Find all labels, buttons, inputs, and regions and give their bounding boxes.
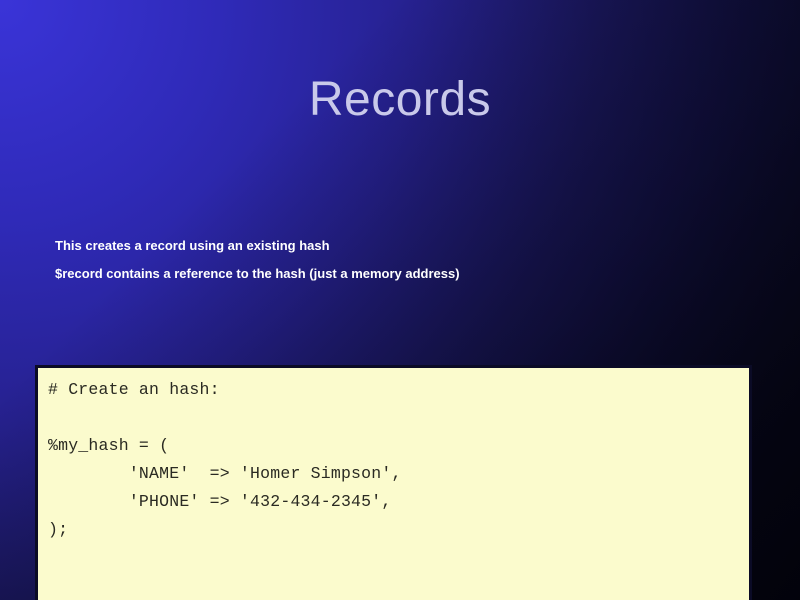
bullet-line-2: $record contains a reference to the hash…: [55, 266, 745, 282]
bullet-line-1: This creates a record using an existing …: [55, 238, 745, 254]
code-block: # Create an hash: %my_hash = ( 'NAME' =>…: [35, 365, 752, 600]
slide-canvas: Records This creates a record using an e…: [0, 0, 800, 600]
code-block-text: # Create an hash: %my_hash = ( 'NAME' =>…: [38, 368, 749, 600]
bullet-list: This creates a record using an existing …: [55, 238, 745, 282]
page-title: Records: [0, 72, 800, 128]
